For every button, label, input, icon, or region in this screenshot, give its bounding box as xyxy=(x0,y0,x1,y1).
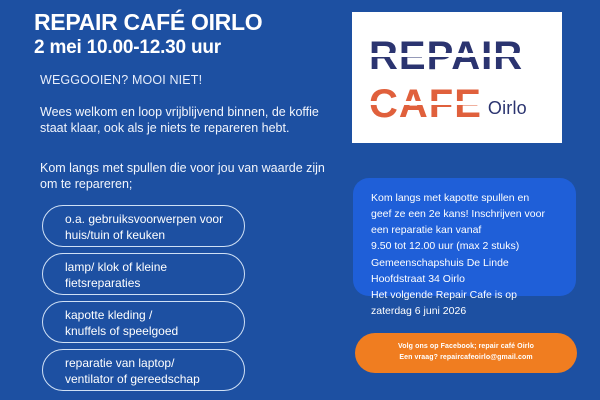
info-line: Kom langs met kapotte spullen en xyxy=(371,190,560,206)
logo-wordmark-repair: REPAIR xyxy=(369,38,523,74)
cta-line-email: Een vraag? repaircafeoirlo@gmail.com xyxy=(399,353,532,364)
list-item: kapotte kleding / knuffels of speelgoed xyxy=(42,301,245,343)
event-datetime: 2 mei 10.00-12.30 uur xyxy=(34,38,334,58)
pill-line-1: reparatie van laptop/ xyxy=(65,355,244,371)
info-line: geef ze een 2e kans! Inschrijven voor xyxy=(371,206,560,222)
tagline: WEGGOOIEN? MOOI NIET! xyxy=(40,73,330,87)
poster-canvas: REPAIR CAFÉ OIRLO 2 mei 10.00-12.30 uur … xyxy=(0,0,600,400)
info-line: een reparatie kan vanaf xyxy=(371,222,560,238)
pill-line-2: knuffels of speelgoed xyxy=(65,323,244,339)
info-box: Kom langs met kapotte spullen en geef ze… xyxy=(353,178,576,296)
logo-panel: REPAIR CAFEOirlo xyxy=(352,12,562,143)
list-item: lamp/ klok of kleine fietsreparaties xyxy=(42,253,245,295)
info-line: zaterdag 6 juni 2026 xyxy=(371,303,560,319)
category-pill-list: o.a. gebruiksvoorwerpen voor huis/tuin o… xyxy=(42,205,247,397)
pill-line-2: fietsreparaties xyxy=(65,275,244,291)
pill-line-2: huis/tuin of keuken xyxy=(65,227,244,243)
intro-paragraph-2: Kom langs met spullen die voor jou van w… xyxy=(40,160,330,193)
page-title: REPAIR CAFÉ OIRLO xyxy=(34,10,334,34)
logo-suffix-oirlo: Oirlo xyxy=(488,98,527,119)
contact-cta-button[interactable]: Volg ons op Facebook; repair café Oirlo … xyxy=(355,333,577,373)
intro-paragraph-1: Wees welkom en loop vrijblijvend binnen,… xyxy=(40,104,330,137)
pill-line-1: lamp/ klok of kleine xyxy=(65,259,244,275)
info-line: Hoofdstraat 34 Oirlo xyxy=(371,271,560,287)
logo-row-top: REPAIR xyxy=(369,38,523,74)
info-line: Het volgende Repair Cafe is op xyxy=(371,287,560,303)
list-item: o.a. gebruiksvoorwerpen voor huis/tuin o… xyxy=(42,205,245,247)
pill-line-2: ventilator of gereedschap xyxy=(65,371,244,387)
left-column: REPAIR CAFÉ OIRLO 2 mei 10.00-12.30 uur … xyxy=(0,0,345,400)
info-line: 9.50 tot 12.00 uur (max 2 stuks) xyxy=(371,238,560,254)
pill-line-1: o.a. gebruiksvoorwerpen voor xyxy=(65,211,244,227)
list-item: reparatie van laptop/ ventilator of gere… xyxy=(42,349,245,391)
cta-line-facebook: Volg ons op Facebook; repair café Oirlo xyxy=(398,342,534,353)
pill-line-1: kapotte kleding / xyxy=(65,307,244,323)
info-line: Gemeenschapshuis De Linde xyxy=(371,255,560,271)
logo-wordmark-cafe: CAFE xyxy=(369,86,482,122)
logo-row-bottom: CAFEOirlo xyxy=(369,86,521,122)
